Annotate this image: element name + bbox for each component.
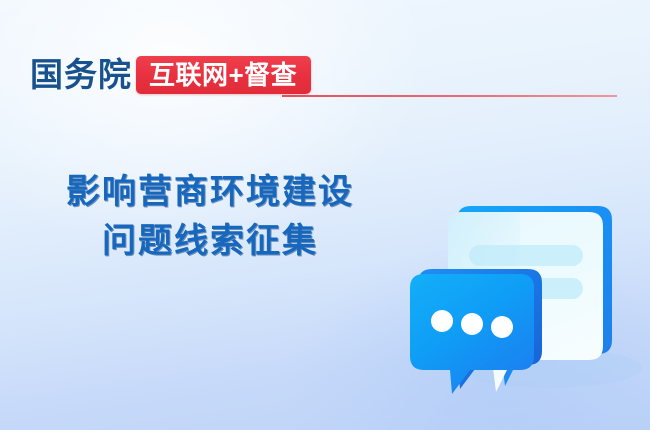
page-title-line-1: 影响营商环境建设: [0, 168, 420, 217]
banner-root: 国务院 互联网+督查 影响营商环境建设 问题线索征集: [0, 0, 650, 430]
internet-supervision-badge: 互联网+督查: [136, 56, 311, 94]
page-title: 影响营商环境建设 问题线索征集: [0, 168, 420, 266]
internet-supervision-badge-label: 互联网+督查: [149, 62, 297, 88]
blue-bubble-dot-3: [491, 316, 513, 338]
blue-bubble-dot-1: [431, 310, 453, 332]
header-divider-rule: [282, 95, 617, 97]
gov-council-label: 国务院: [30, 52, 132, 98]
speech-bubbles-illustration: [400, 196, 650, 411]
page-title-line-2: 问题线索征集: [0, 217, 420, 266]
blue-bubble-dot-2: [461, 313, 483, 335]
